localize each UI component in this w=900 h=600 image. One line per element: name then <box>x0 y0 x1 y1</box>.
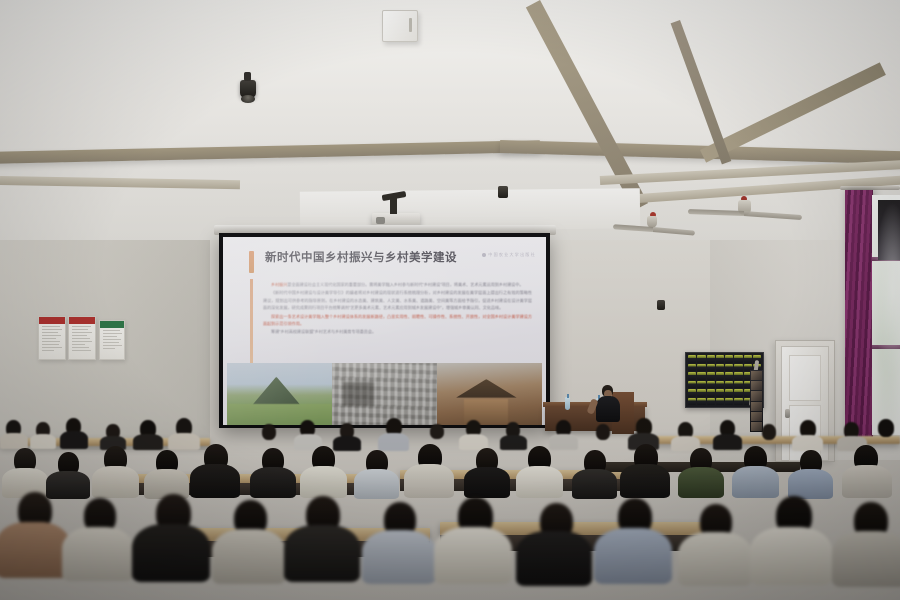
ceiling <box>0 0 900 240</box>
student-body <box>168 433 200 450</box>
student-body <box>500 435 527 450</box>
publisher-logo-text: 中国农业大学出版社 <box>488 252 536 257</box>
presentation-slide: 新时代中国乡村振兴与乡村美学建设 中国农业大学出版社 乡村振兴是全面建设社会主义… <box>223 237 546 425</box>
student-body <box>62 527 134 581</box>
poster-header <box>69 317 95 324</box>
student-body <box>333 436 361 451</box>
student-head <box>430 424 444 439</box>
student-body <box>549 434 578 450</box>
poster-header <box>39 317 65 324</box>
student-body <box>832 531 900 587</box>
window-curtain[interactable] <box>845 190 873 440</box>
village-aerial-photo <box>332 363 437 425</box>
student-body <box>572 469 617 499</box>
student-body <box>404 464 454 498</box>
publisher-logo: 中国农业大学出版社 <box>482 252 536 258</box>
ceiling-beam <box>0 140 540 164</box>
student-body <box>620 464 670 498</box>
student-body <box>250 467 296 498</box>
spot-light-icon <box>498 186 508 198</box>
student-head <box>262 424 276 440</box>
student-body <box>92 466 139 498</box>
presenter-torso <box>596 396 620 422</box>
student-body <box>713 434 742 450</box>
lecture-hall-photo: 新时代中国乡村振兴与乡村美学建设 中国农业大学出版社 乡村振兴是全面建设社会主义… <box>0 0 900 600</box>
student-body <box>750 527 832 585</box>
student-body <box>788 469 833 499</box>
student-body <box>284 525 360 582</box>
spot-light-icon <box>657 300 665 310</box>
student-head <box>596 424 610 440</box>
student-body <box>378 433 409 451</box>
ceiling-slat <box>0 176 240 189</box>
student-body <box>190 464 240 498</box>
student-body <box>678 467 724 498</box>
student-body <box>732 466 779 498</box>
window-blind <box>878 200 900 260</box>
projector-mount <box>390 197 397 214</box>
student-body <box>516 466 563 498</box>
student-body <box>60 431 88 449</box>
student-body <box>0 522 70 578</box>
student-body <box>30 434 56 449</box>
notice-board-red-2 <box>68 316 96 360</box>
slide-paragraph: 乡村振兴是全面建设社会主义现代化国家的重要部分。需将美学融入乡村参与新时代“乡村… <box>263 281 532 288</box>
projector-lens-icon <box>376 217 385 224</box>
slide-paragraph: 《新时代中国乡村建设与设计美学导引》的编者将对乡村建设的现状进行系统梳理分析，对… <box>263 289 532 311</box>
rural-landscape-photo <box>227 363 332 425</box>
slide-highlight: 乡村振兴 <box>271 282 287 287</box>
student-head <box>878 419 894 437</box>
student-body <box>842 465 892 498</box>
door-handle-icon[interactable] <box>785 409 790 418</box>
ceiling-beam <box>671 20 732 164</box>
wall-photo-panel <box>750 370 763 432</box>
slide-paragraph: 筹建“乡村高校建设联盟”乡村艺术与乡村美育专项委员会。 <box>263 328 532 335</box>
poster-header <box>100 321 124 328</box>
traditional-house-photo <box>437 363 542 425</box>
student-body <box>362 530 436 584</box>
slide-photo-strip <box>227 363 542 425</box>
student-body <box>354 469 399 499</box>
student-body <box>434 527 512 584</box>
ceiling-beam <box>500 140 900 165</box>
door-panel <box>789 355 821 401</box>
student-body <box>300 466 347 498</box>
student-body <box>594 528 672 584</box>
student-body <box>132 524 210 582</box>
slide-accent-bar <box>249 251 254 273</box>
student-body <box>464 467 510 498</box>
student-body <box>133 434 163 450</box>
logo-mark-icon <box>482 253 486 257</box>
student-body <box>678 532 752 586</box>
spot-light-icon <box>240 80 256 98</box>
student-body <box>516 531 592 586</box>
student-body <box>792 435 823 451</box>
student-body <box>0 433 28 449</box>
notice-board-green <box>99 320 125 360</box>
slide-accent-line <box>250 279 253 367</box>
notice-board-red-1 <box>38 316 66 360</box>
student-head <box>762 424 776 440</box>
water-bottle <box>565 397 570 410</box>
student-body <box>46 471 90 499</box>
slide-title: 新时代中国乡村振兴与乡村美学建设 <box>265 249 457 265</box>
ceiling-mounted-box <box>382 10 418 42</box>
slide-paragraph: 探索出一条艺术设计美学融入整个乡村建设体系的发展新路径，凸显实用性、前瞻性、可操… <box>263 313 532 328</box>
student-body <box>212 529 286 584</box>
slide-body-text: 乡村振兴是全面建设社会主义现代化国家的重要部分。需将美学融入乡村参与新时代“乡村… <box>263 281 532 337</box>
projection-screen: 新时代中国乡村振兴与乡村美学建设 中国农业大学出版社 乡村振兴是全面建设社会主义… <box>219 233 550 428</box>
